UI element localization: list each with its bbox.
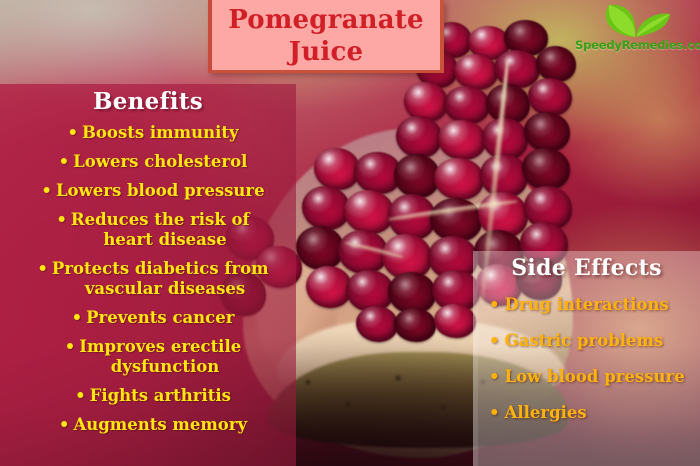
list-item-text: Allergies xyxy=(505,403,587,422)
side-effects-section: Side Effects •Drug interactions •Gastric… xyxy=(473,255,700,439)
bullet-icon: • xyxy=(59,415,70,434)
bullet-icon: • xyxy=(65,337,76,356)
bullet-icon: • xyxy=(489,295,500,314)
list-item-text: Improves erectile xyxy=(79,337,241,356)
list-item-text: Augments memory xyxy=(73,415,247,434)
side-effects-list: •Drug interactions •Gastric problems •Lo… xyxy=(473,295,700,423)
benefits-list: •Boosts immunity •Lowers cholesterol •Lo… xyxy=(0,123,296,435)
bullet-icon: • xyxy=(67,123,78,142)
bullet-icon: • xyxy=(489,403,500,422)
list-item-text: Prevents cancer xyxy=(86,308,234,327)
list-item: •Boosts immunity xyxy=(14,123,290,143)
two-leaves-icon xyxy=(599,2,673,38)
list-item-text-line-2: vascular diseases xyxy=(28,279,290,299)
list-item-text: Protects diabetics from xyxy=(52,259,269,278)
infographic-canvas: Pomegranate Juice SpeedyRemedies.com Ben… xyxy=(0,0,700,466)
list-item: •Gastric problems xyxy=(489,331,696,351)
list-item: •Protects diabetics fromvascular disease… xyxy=(14,259,290,299)
list-item-text: Lowers blood pressure xyxy=(56,181,265,200)
side-effects-heading: Side Effects xyxy=(473,255,700,281)
list-item-text: Reduces the risk of xyxy=(71,210,250,229)
benefits-heading: Benefits xyxy=(0,88,296,115)
list-item: •Low blood pressure xyxy=(489,367,696,387)
list-item: •Reduces the risk ofheart disease xyxy=(14,210,290,250)
bullet-icon: • xyxy=(37,259,48,278)
page-title: Pomegranate Juice xyxy=(208,0,444,73)
page-title-line-1: Pomegranate xyxy=(228,4,423,36)
bullet-icon: • xyxy=(41,181,52,200)
list-item: •Improves erectiledysfunction xyxy=(14,337,290,377)
list-item-text-line-2: heart disease xyxy=(28,230,290,250)
bullet-icon: • xyxy=(56,210,67,229)
bullet-icon: • xyxy=(59,152,70,171)
list-item-text: Boosts immunity xyxy=(82,123,239,142)
list-item-text-line-2: dysfunction xyxy=(28,357,290,377)
list-item: •Drug interactions xyxy=(489,295,696,315)
bullet-icon: • xyxy=(489,331,500,350)
list-item: •Allergies xyxy=(489,403,696,423)
list-item-text: Drug interactions xyxy=(505,295,669,314)
bullet-icon: • xyxy=(72,308,83,327)
list-item: •Augments memory xyxy=(14,415,290,435)
bullet-icon: • xyxy=(75,386,86,405)
list-item-text: Gastric problems xyxy=(505,331,664,350)
page-title-line-2: Juice xyxy=(289,36,363,68)
bullet-icon: • xyxy=(489,367,500,386)
list-item-text: Fights arthritis xyxy=(90,386,231,405)
list-item: •Fights arthritis xyxy=(14,386,290,406)
list-item: •Lowers blood pressure xyxy=(14,181,290,201)
list-item: •Lowers cholesterol xyxy=(14,152,290,172)
site-logo[interactable]: SpeedyRemedies.com xyxy=(575,2,697,58)
site-logo-text: SpeedyRemedies.com xyxy=(575,38,697,52)
list-item-text: Lowers cholesterol xyxy=(73,152,247,171)
list-item-text: Low blood pressure xyxy=(505,367,685,386)
benefits-section: Benefits •Boosts immunity •Lowers choles… xyxy=(0,88,296,444)
list-item: •Prevents cancer xyxy=(14,308,290,328)
